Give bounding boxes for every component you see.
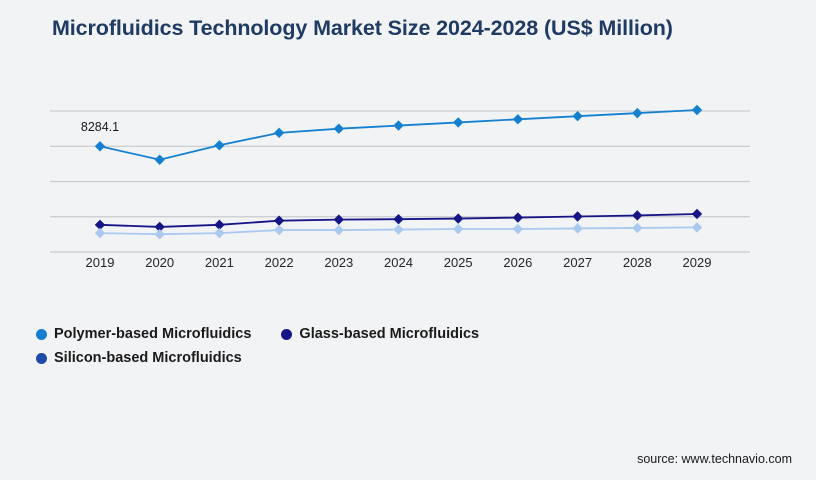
legend-label: Silicon-based Microfluidics bbox=[54, 350, 242, 366]
x-tick-label-2029: 2029 bbox=[683, 255, 712, 270]
series-line-0 bbox=[100, 110, 697, 160]
legend-marker-icon bbox=[36, 329, 47, 340]
data-point bbox=[692, 105, 702, 115]
data-point bbox=[214, 228, 224, 238]
x-axis-labels: 2019202020212022202320242025202620272028… bbox=[50, 255, 750, 275]
chart-title: Microfluidics Technology Market Size 202… bbox=[52, 14, 742, 43]
data-point bbox=[393, 224, 403, 234]
data-point bbox=[95, 228, 105, 238]
x-tick-label-2026: 2026 bbox=[503, 255, 532, 270]
data-point bbox=[572, 111, 582, 121]
source-note: source: www.technavio.com bbox=[637, 452, 792, 466]
data-point bbox=[274, 128, 284, 138]
data-point bbox=[393, 214, 403, 224]
data-point bbox=[274, 225, 284, 235]
x-tick-label-2022: 2022 bbox=[265, 255, 294, 270]
data-point bbox=[632, 210, 642, 220]
x-tick-label-2025: 2025 bbox=[444, 255, 473, 270]
x-tick-label-2023: 2023 bbox=[324, 255, 353, 270]
data-point-label: 8284.1 bbox=[81, 120, 119, 134]
data-point bbox=[572, 211, 582, 221]
data-point bbox=[453, 213, 463, 223]
data-point bbox=[632, 223, 642, 233]
x-tick-label-2028: 2028 bbox=[623, 255, 652, 270]
data-point bbox=[155, 155, 165, 165]
legend-item[interactable]: Silicon-based Microfluidics bbox=[36, 350, 242, 366]
legend-row-1: Silicon-based Microfluidics bbox=[36, 346, 780, 370]
data-point bbox=[155, 229, 165, 239]
data-point bbox=[692, 222, 702, 232]
legend-marker-icon bbox=[36, 353, 47, 364]
x-tick-label-2024: 2024 bbox=[384, 255, 413, 270]
data-point bbox=[95, 141, 105, 151]
plot-svg bbox=[50, 104, 750, 252]
data-point bbox=[214, 140, 224, 150]
plot-area: 8284.1 bbox=[50, 104, 750, 252]
legend-row-0: Polymer-based MicrofluidicsGlass-based M… bbox=[36, 322, 780, 346]
data-point bbox=[334, 225, 344, 235]
data-point bbox=[393, 120, 403, 130]
chart-container: Microfluidics Technology Market Size 202… bbox=[0, 0, 816, 480]
data-point bbox=[692, 209, 702, 219]
x-tick-label-2020: 2020 bbox=[145, 255, 174, 270]
data-point bbox=[453, 224, 463, 234]
data-point bbox=[453, 117, 463, 127]
data-point bbox=[513, 114, 523, 124]
data-point bbox=[334, 123, 344, 133]
legend-item[interactable]: Glass-based Microfluidics bbox=[281, 326, 479, 342]
legend-item[interactable]: Polymer-based Microfluidics bbox=[36, 326, 251, 342]
legend-label: Glass-based Microfluidics bbox=[299, 326, 479, 342]
chart-legend: Polymer-based MicrofluidicsGlass-based M… bbox=[36, 322, 780, 370]
data-point bbox=[632, 108, 642, 118]
x-tick-label-2027: 2027 bbox=[563, 255, 592, 270]
x-tick-label-2021: 2021 bbox=[205, 255, 234, 270]
x-tick-label-2019: 2019 bbox=[86, 255, 115, 270]
data-point bbox=[572, 223, 582, 233]
data-point bbox=[334, 214, 344, 224]
legend-label: Polymer-based Microfluidics bbox=[54, 326, 251, 342]
series-markers bbox=[95, 105, 702, 240]
legend-marker-icon bbox=[281, 329, 292, 340]
data-point bbox=[513, 212, 523, 222]
data-point bbox=[513, 224, 523, 234]
